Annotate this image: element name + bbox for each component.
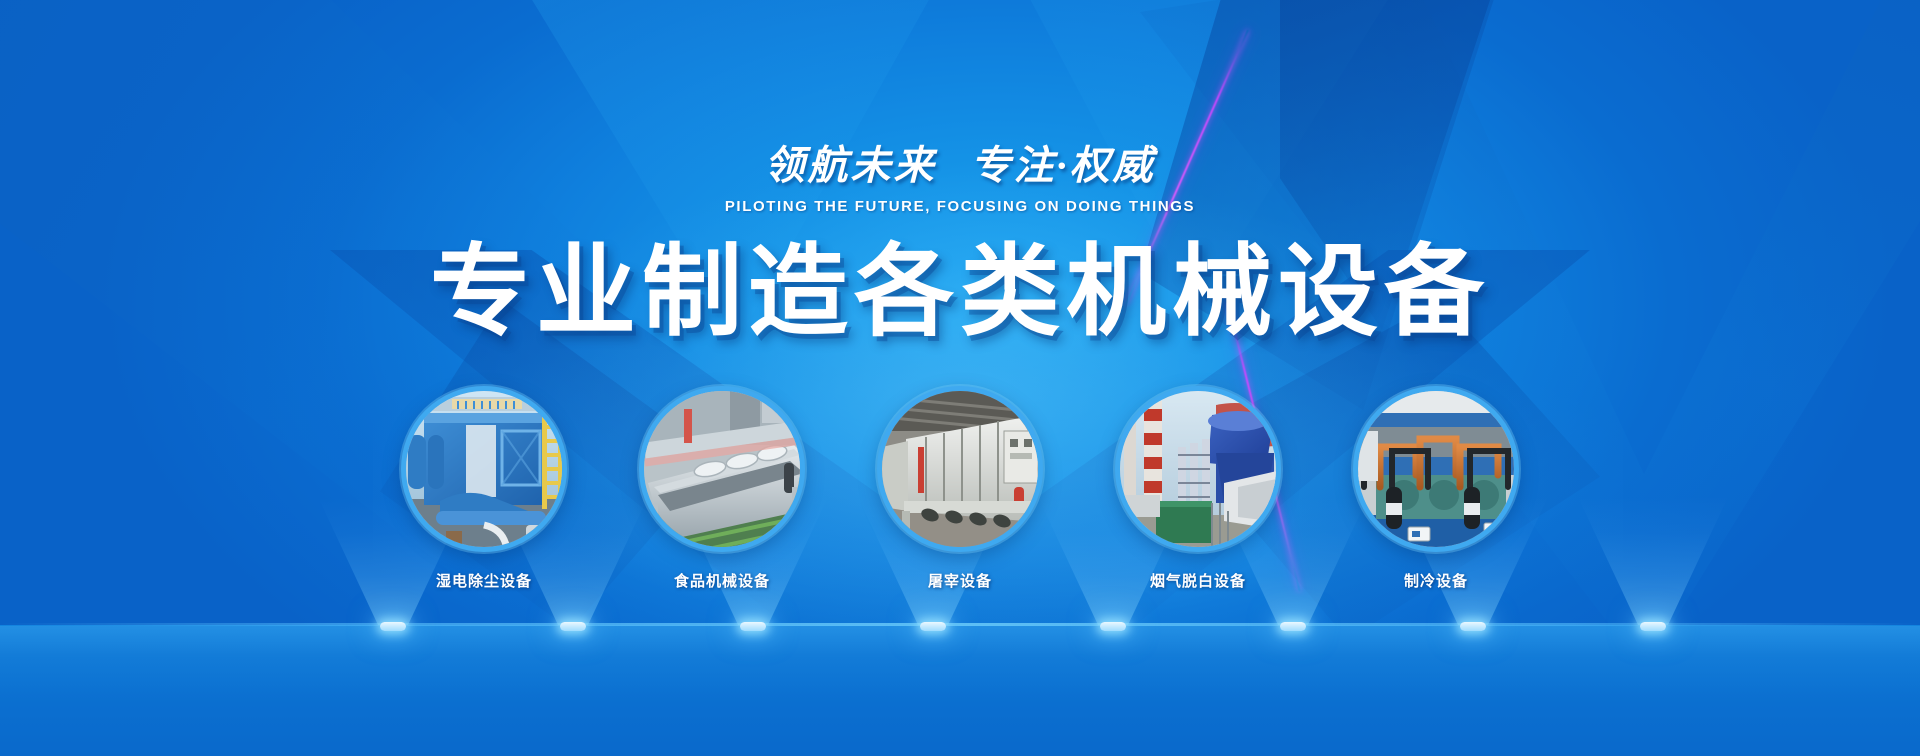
slaughtering-equipment-photo [882, 391, 1038, 547]
product-item-flue-gas-dewhitening[interactable]: 烟气脱白设备 [1100, 386, 1296, 591]
spotlight-lamp [560, 622, 586, 631]
product-item-wet-electrostatic-precipitator[interactable]: 湿电除尘设备 [386, 386, 582, 591]
promo-banner: 领航未来专注·权威 PILOTING THE FUTURE, FOCUSING … [0, 0, 1920, 756]
product-circle[interactable] [1353, 386, 1519, 552]
spotlight-lamp [1100, 622, 1126, 631]
product-label: 湿电除尘设备 [436, 570, 532, 591]
slogan-chinese-left: 领航未来 [765, 143, 937, 188]
product-label: 屠宰设备 [928, 570, 992, 591]
product-circle[interactable] [877, 386, 1043, 552]
product-label: 食品机械设备 [674, 570, 770, 591]
slogan-block: 领航未来专注·权威 PILOTING THE FUTURE, FOCUSING … [0, 146, 1920, 215]
stage-floor [0, 625, 1920, 756]
refrigeration-equipment-photo [1358, 391, 1514, 547]
headline-title: 专业制造各类机械设备 [0, 238, 1920, 346]
slogan-english: PILOTING THE FUTURE, FOCUSING ON DOING T… [0, 198, 1920, 215]
product-label: 烟气脱白设备 [1150, 570, 1246, 591]
product-circle[interactable] [401, 386, 567, 552]
slogan-chinese-right: 专注·权威 [971, 143, 1156, 188]
spotlight-lamp [1640, 622, 1666, 631]
food-machinery-photo [644, 391, 800, 547]
spotlight-lamp [920, 622, 946, 631]
wet-electrostatic-precipitator-photo [406, 391, 562, 547]
product-circle-row: 湿电除尘设备 [0, 386, 1920, 591]
stage-edge-line [0, 623, 1920, 626]
flue-gas-dewhitening-photo [1120, 391, 1276, 547]
slogan-chinese: 领航未来专注·权威 [765, 146, 1156, 186]
product-item-food-machinery[interactable]: 食品机械设备 [624, 386, 820, 591]
product-circle[interactable] [639, 386, 805, 552]
spotlight-lamp [380, 622, 406, 631]
product-label: 制冷设备 [1404, 570, 1468, 591]
product-item-slaughtering-equipment[interactable]: 屠宰设备 [862, 386, 1058, 591]
product-circle[interactable] [1115, 386, 1281, 552]
spotlight-lamp [1460, 622, 1486, 631]
spotlight-lamp [740, 622, 766, 631]
spotlight-lamp [1280, 622, 1306, 631]
product-item-refrigeration-equipment[interactable]: 制冷设备 [1338, 386, 1534, 591]
